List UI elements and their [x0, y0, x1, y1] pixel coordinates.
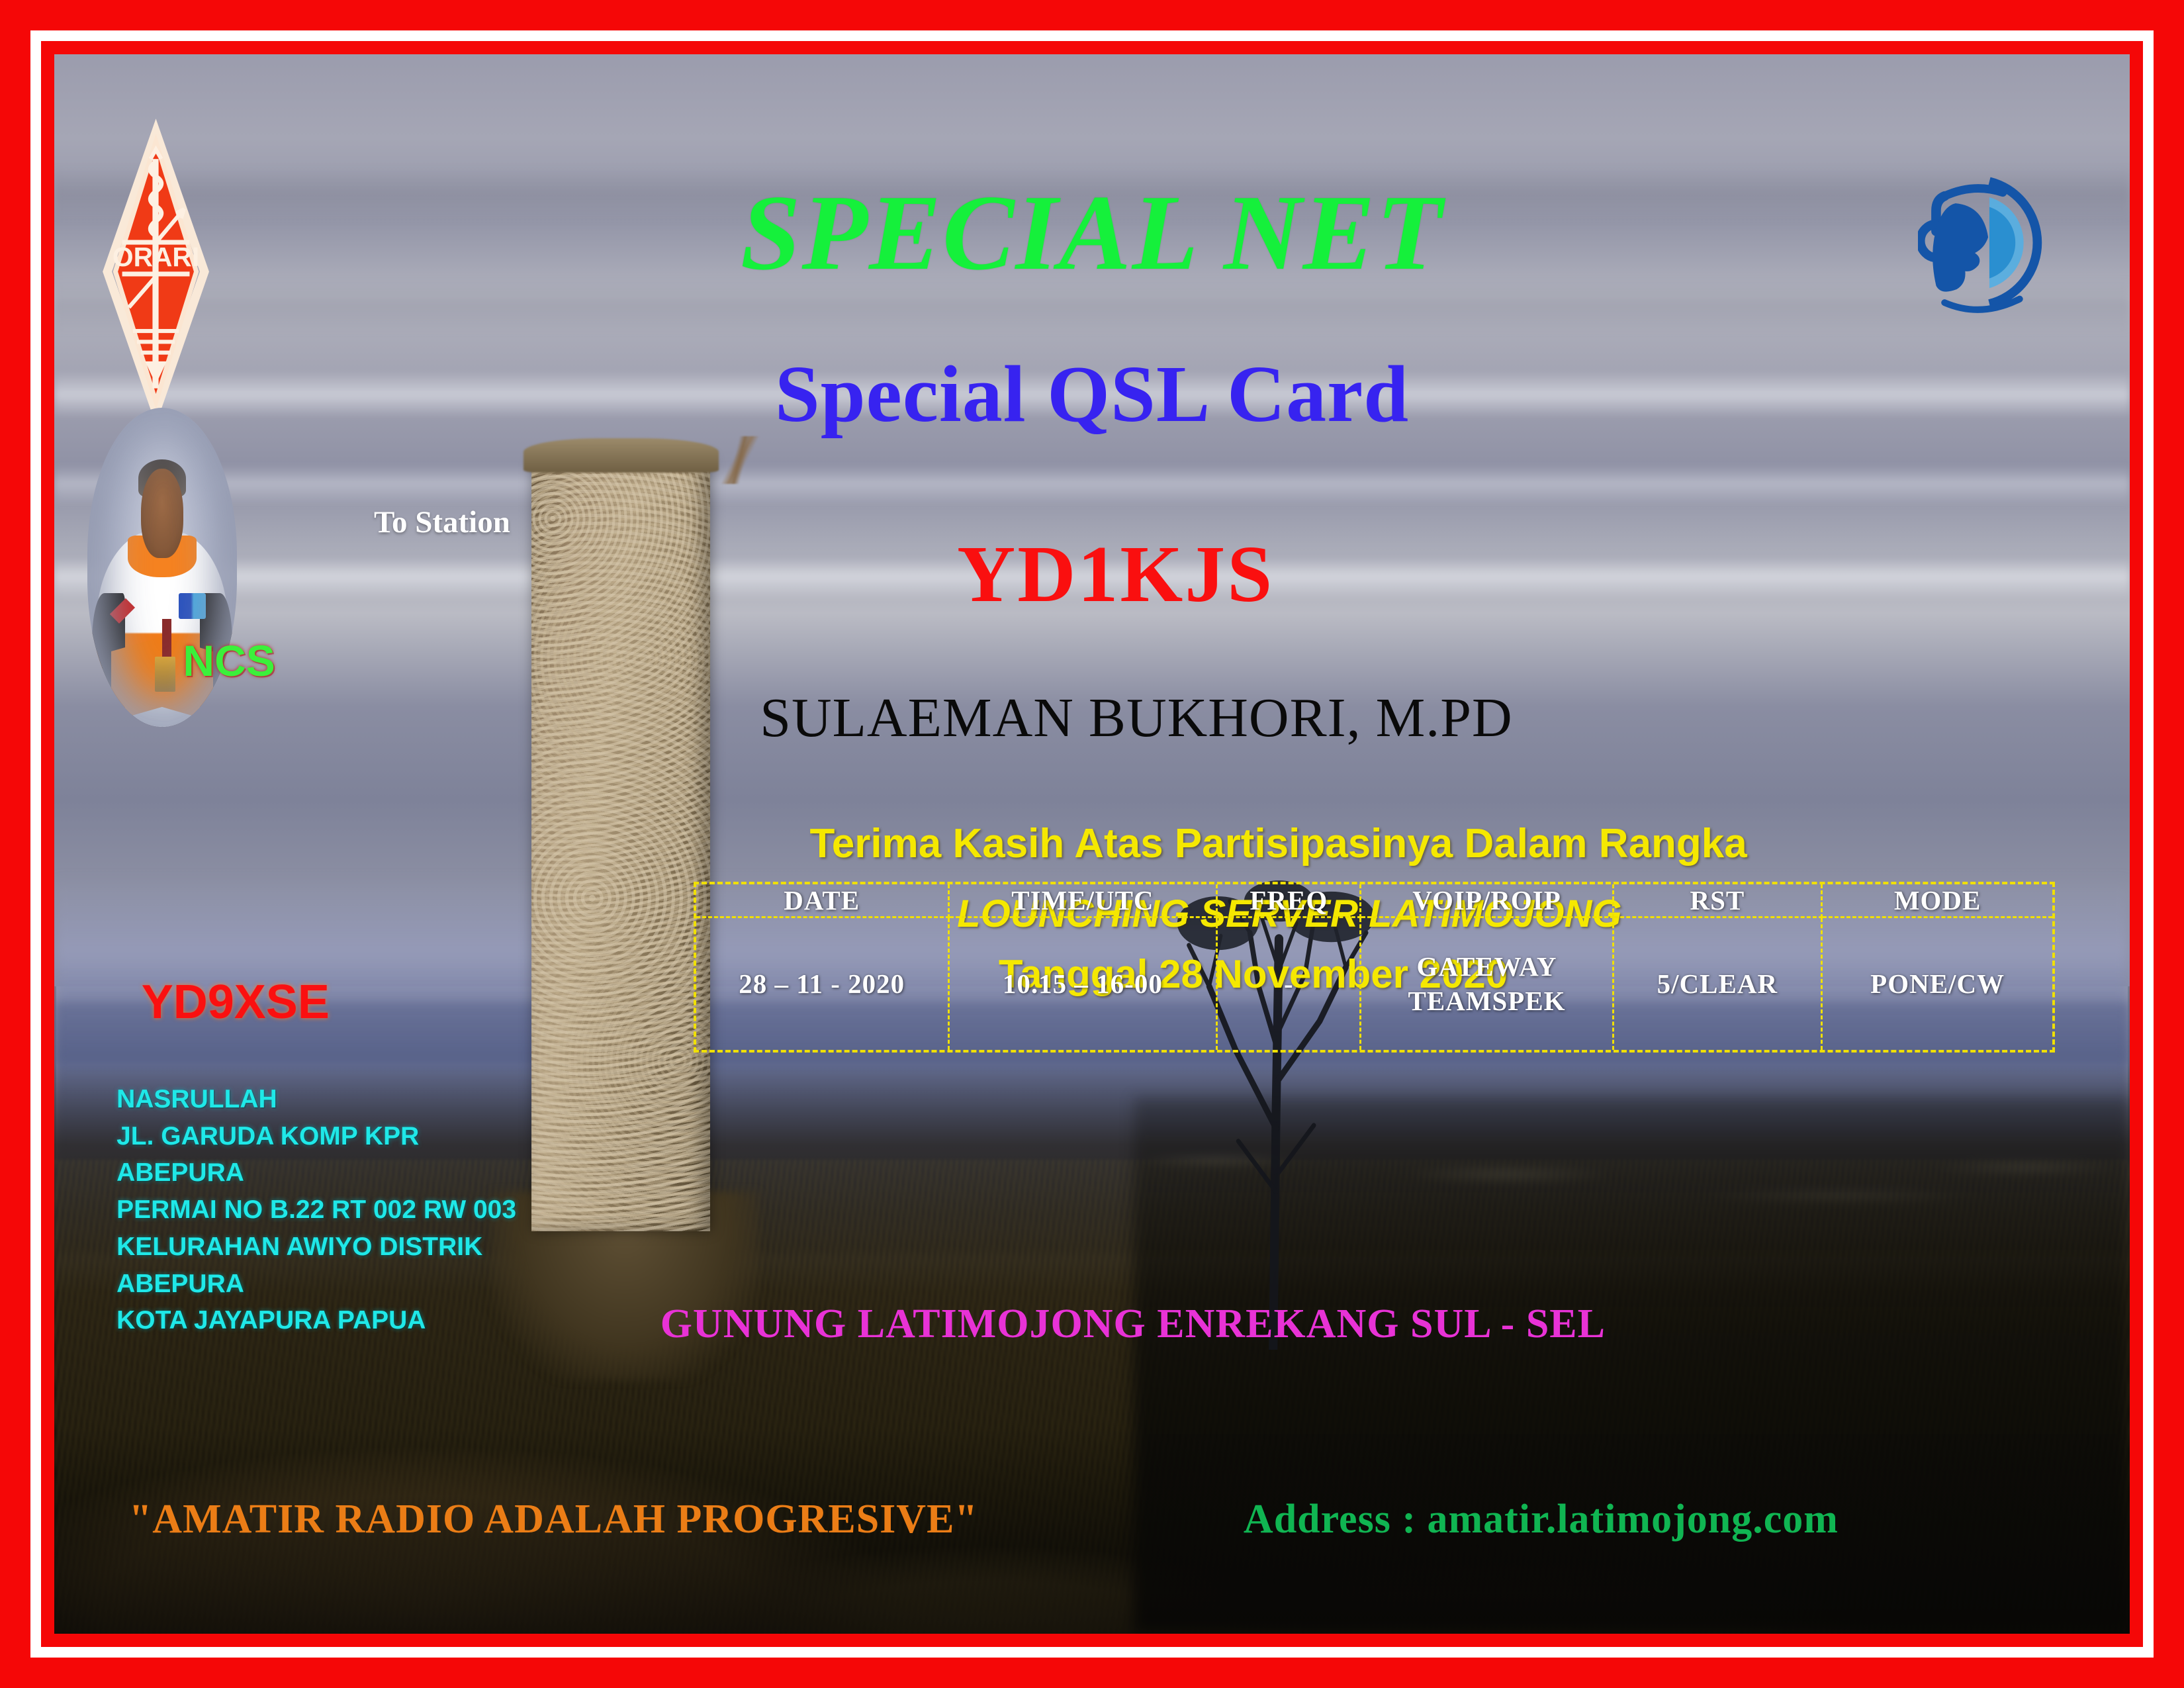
to-station-label: To Station — [374, 504, 510, 540]
card-white-gap: ORARI — [30, 30, 2154, 1658]
thanks-line: Terima Kasih Atas Partisipasinya Dalam R… — [810, 820, 1747, 867]
cell-voip-line2: TEAMSPEK — [1408, 986, 1565, 1016]
stone-monument — [531, 457, 710, 1231]
club-motto: "AMATIR RADIO ADALAH PROGRESIVE" — [129, 1496, 978, 1543]
qsl-card-root: ORARI — [0, 0, 2184, 1688]
qso-log-table: DATE TIME/UTC FREQ VOIP/ROIP RST MODE 28… — [694, 882, 2055, 1053]
table-row: 28 – 11 - 2020 10.15 – 16-00 - GATEWAY T… — [696, 917, 2052, 1050]
address-line: PERMAI NO B.22 RT 002 RW 003 — [116, 1192, 516, 1229]
address-line: ABEPURA — [116, 1154, 516, 1192]
column-header-rst: RST — [1613, 884, 1822, 917]
ncs-label: NCS — [183, 635, 275, 686]
column-header-mode: MODE — [1822, 884, 2052, 917]
monument-grass — [702, 436, 784, 484]
cell-voip: GATEWAY TEAMSPEK — [1361, 917, 1613, 1050]
column-header-freq: FREQ — [1217, 884, 1361, 917]
column-header-time: TIME/UTC — [948, 884, 1217, 917]
cell-mode: PONE/CW — [1822, 917, 2052, 1050]
address-line: ABEPURA — [116, 1266, 516, 1303]
address-line: KOTA JAYAPURA PAPUA — [116, 1302, 516, 1339]
address-line: NASRULLAH — [116, 1081, 516, 1118]
page-subtitle: Special QSL Card — [54, 348, 2130, 441]
cell-voip-line1: GATEWAY — [1416, 951, 1557, 982]
address-line: KELURAHAN AWIYO DISTRIK — [116, 1229, 516, 1266]
monument-cap — [523, 438, 719, 473]
column-header-date: DATE — [696, 884, 948, 917]
station-callsign: YD1KJS — [957, 528, 1274, 621]
cell-time: 10.15 – 16-00 — [948, 917, 1217, 1050]
ncs-callsign: YD9XSE — [142, 975, 330, 1029]
cell-rst: 5/CLEAR — [1613, 917, 1822, 1050]
table-header-row: DATE TIME/UTC FREQ VOIP/ROIP RST MODE — [696, 884, 2052, 917]
address-line: JL. GARUDA KOMP KPR — [116, 1118, 516, 1155]
column-header-voip: VOIP/ROIP — [1361, 884, 1613, 917]
cell-date: 28 – 11 - 2020 — [696, 917, 948, 1050]
web-address: Address : amatir.latimojong.com — [1244, 1496, 1839, 1543]
event-location: GUNUNG LATIMOJONG ENREKANG SUL - SEL — [660, 1301, 1606, 1348]
page-title: SPECIAL NET — [54, 171, 2130, 295]
card-photo-stage: ORARI — [54, 54, 2130, 1634]
operator-name: SULAEMAN BUKHORI, M.PD — [760, 686, 1512, 750]
cell-freq: - — [1217, 917, 1361, 1050]
card-inner-red-border: ORARI — [41, 41, 2143, 1647]
mailing-address: NASRULLAH JL. GARUDA KOMP KPR ABEPURA PE… — [116, 1081, 516, 1339]
